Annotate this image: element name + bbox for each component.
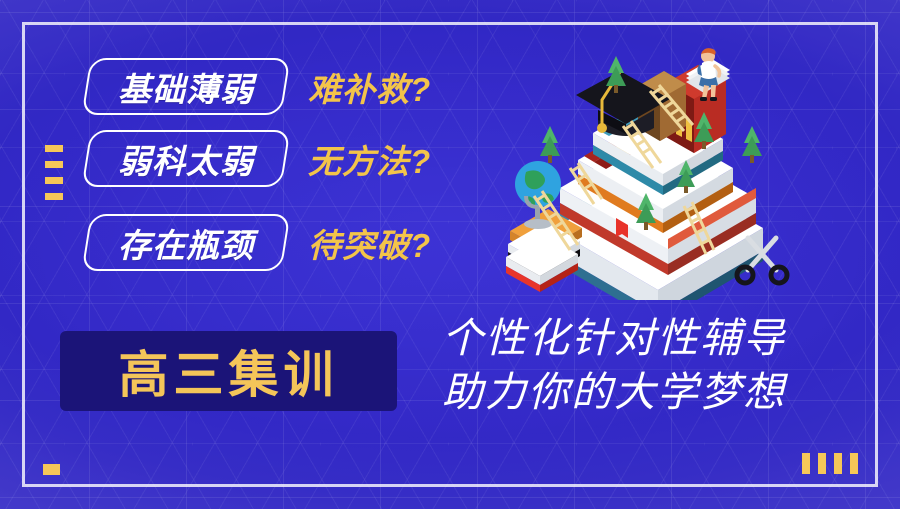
feature-row: 弱科太弱 无方法? [86, 130, 431, 187]
feature-label: 基础薄弱 [118, 63, 254, 111]
pine-tree-icon [742, 126, 762, 163]
bar-mark [818, 453, 826, 474]
feature-label: 存在瓶颈 [118, 219, 254, 267]
slogan-line-2: 助力你的大学梦想 [442, 366, 842, 418]
poster-banner: 基础薄弱 难补救? 弱科太弱 无方法? 存在瓶颈 待突破? 高三集训 个性化针对… [0, 0, 900, 509]
feature-label: 弱科太弱 [118, 135, 254, 183]
pine-tree-icon [540, 126, 560, 163]
feature-question: 无方法? [308, 135, 431, 183]
bar-mark [834, 453, 842, 474]
dash-mark [45, 145, 63, 152]
main-title-text: 高三集训 [119, 335, 339, 407]
feature-question: 难补救? [308, 63, 431, 111]
main-title-badge: 高三集训 [60, 331, 397, 411]
feature-pill-1: 基础薄弱 [86, 58, 286, 115]
left-dash-decoration [45, 145, 63, 200]
dash-mark [45, 161, 63, 168]
bottom-left-block-decoration [43, 464, 60, 475]
feature-row: 基础薄弱 难补救? [86, 58, 431, 115]
bottom-right-bars-decoration [802, 453, 858, 474]
feature-question: 待突破? [308, 219, 431, 267]
isometric-book-stack-illustration [498, 38, 798, 300]
bar-mark [802, 453, 810, 474]
slogan-block: 个性化针对性辅导 助力你的大学梦想 [442, 312, 842, 419]
feature-pill-2: 弱科太弱 [86, 130, 286, 187]
slogan-line-1: 个性化针对性辅导 [442, 312, 842, 364]
feature-row: 存在瓶颈 待突破? [86, 214, 431, 271]
bar-mark [850, 453, 858, 474]
dash-mark [45, 193, 63, 200]
feature-list: 基础薄弱 难补救? 弱科太弱 无方法? 存在瓶颈 待突破? [86, 58, 431, 271]
dash-mark [45, 177, 63, 184]
feature-pill-3: 存在瓶颈 [86, 214, 286, 271]
